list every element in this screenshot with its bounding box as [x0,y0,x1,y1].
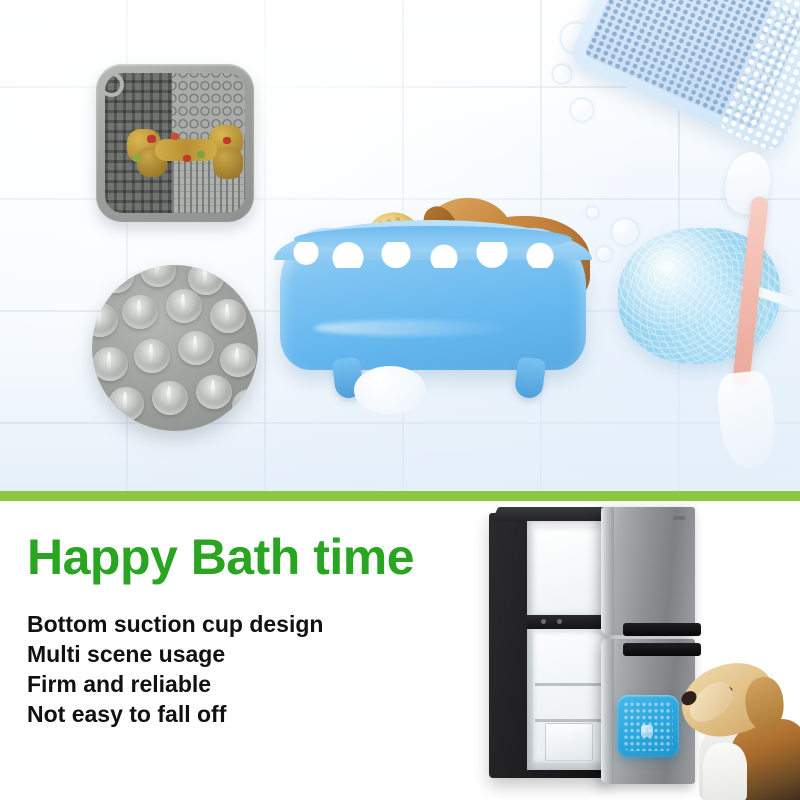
lick-mat-grey [96,64,254,222]
fridge-screw [541,619,546,624]
fridge-door-hinge [601,639,614,784]
beagle-chest [703,743,747,800]
bathtub-scene [268,190,598,430]
hero-photo-panel [0,0,800,491]
fridge-screw [557,619,562,624]
food-bone-smear [127,125,243,181]
list-item: Not easy to fall off [27,699,323,729]
fridge-shelf [535,719,601,722]
soap-bubble [596,246,612,262]
freezer-compartment [533,527,603,615]
bathtub-highlight [314,320,514,336]
feature-list: Bottom suction cup design Multi scene us… [27,609,323,730]
page-title: Happy Bath time [27,532,414,582]
fridge-door-hinge [601,507,614,635]
fridge-freezer-handle [623,623,701,636]
bottom-info-panel: Happy Bath time Bottom suction cup desig… [0,501,800,800]
fridge-top [492,507,616,521]
fridge-crisper-drawer [545,723,593,761]
product-marketing-image: Happy Bath time Bottom suction cup desig… [0,0,800,800]
suction-cup [210,299,246,333]
green-divider-bar [0,491,800,501]
suction-cup [122,295,158,329]
suction-cup [178,331,214,365]
fridge-compartment-divider [527,615,609,629]
mat-hanging-hole [99,72,124,97]
suction-cup [92,347,128,381]
beagle [655,659,800,800]
soap-bubble [552,64,572,84]
lick-mat-texture-area [105,73,245,213]
list-item: Bottom suction cup design [27,609,323,639]
list-item: Firm and reliable [27,669,323,699]
list-item: Multi scene usage [27,639,323,669]
fridge-shelf [535,683,601,686]
suction-cup-closeup [92,265,258,431]
suction-cup [98,265,134,293]
suction-cup [196,375,232,409]
lick-mat-suction-point [641,725,653,737]
suction-cup [134,339,170,373]
suction-cup [152,381,188,415]
foam-blob [354,366,426,414]
bathtub-leg [514,356,547,399]
suction-cup [92,303,118,337]
bath-foam [282,242,582,268]
suction-cup [166,289,202,323]
fridge-door-handle [623,643,701,656]
suction-cup [220,343,256,377]
soap-bubble [570,98,594,122]
fridge-brand-logo [673,516,685,520]
fridge-freezer-door [601,507,695,635]
suction-cup [140,265,176,287]
suction-cup [108,387,144,421]
